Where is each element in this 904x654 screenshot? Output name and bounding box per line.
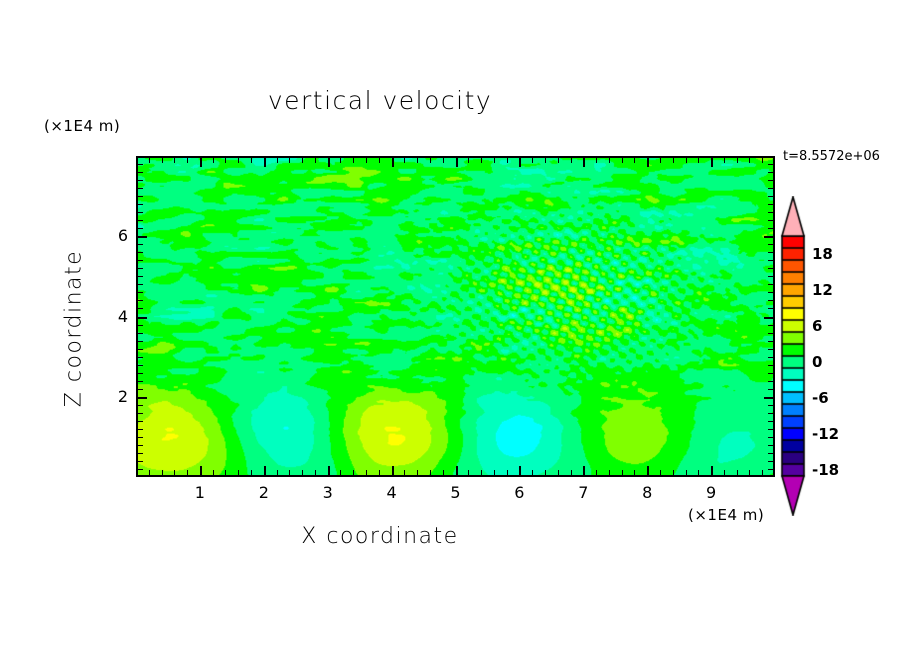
y-tick-right <box>768 469 773 470</box>
y-tick-minor <box>138 204 143 205</box>
y-tick-minor <box>138 220 143 221</box>
page-title: vertical velocity <box>0 86 760 115</box>
x-tick-minor <box>622 470 623 475</box>
y-tick-right <box>768 300 773 301</box>
x-tick-top <box>494 158 495 163</box>
x-tick-minor <box>353 470 354 475</box>
y-tick-minor <box>138 405 143 406</box>
y-tick-right <box>764 397 773 399</box>
x-tick-label: 6 <box>499 483 539 502</box>
y-tick-right <box>768 349 773 350</box>
y-tick-right <box>768 180 773 181</box>
y-tick-right <box>768 244 773 245</box>
y-tick-right <box>768 260 773 261</box>
x-tick-minor <box>494 470 495 475</box>
x-tick-minor <box>379 470 380 475</box>
x-tick-top <box>379 158 380 163</box>
y-tick-right <box>768 341 773 342</box>
y-tick-minor <box>138 453 143 454</box>
y-tick-right <box>768 429 773 430</box>
x-tick-top <box>634 158 635 163</box>
x-tick-top <box>545 158 546 163</box>
x-tick-minor <box>225 470 226 475</box>
x-tick-minor <box>762 470 763 475</box>
colorbar-tick-label: -18 <box>812 461 839 479</box>
x-tick-minor <box>698 470 699 475</box>
x-tick-top <box>149 158 150 163</box>
x-tick-minor <box>481 470 482 475</box>
y-tick-minor <box>138 421 143 422</box>
y-tick-right <box>768 445 773 446</box>
y-tick-minor <box>138 397 147 399</box>
y-tick-right <box>768 325 773 326</box>
x-tick-minor <box>328 466 330 475</box>
x-tick-minor <box>673 470 674 475</box>
x-tick-top <box>200 158 202 167</box>
y-tick-right <box>768 204 773 205</box>
colorbar-tick-label: -12 <box>812 425 839 443</box>
x-tick-minor <box>289 470 290 475</box>
x-tick-top <box>315 158 316 163</box>
x-tick-label: 3 <box>308 483 348 502</box>
x-tick-minor <box>366 470 367 475</box>
colorbar-tick-label: -6 <box>812 389 829 407</box>
x-tick-minor <box>404 470 405 475</box>
x-tick-minor <box>187 470 188 475</box>
y-tick-right <box>768 188 773 189</box>
y-tick-label: 2 <box>88 387 128 406</box>
x-tick-top <box>737 158 738 163</box>
x-tick-top <box>277 158 278 163</box>
y-tick-right <box>768 333 773 334</box>
x-tick-top <box>660 158 661 163</box>
x-tick-top <box>366 158 367 163</box>
y-tick-right <box>768 292 773 293</box>
x-tick-minor <box>213 470 214 475</box>
y-tick-minor <box>138 228 143 229</box>
x-tick-minor <box>749 470 750 475</box>
colorbar-tick-label: 6 <box>812 317 822 335</box>
y-tick-right <box>768 196 773 197</box>
y-tick-right <box>768 453 773 454</box>
x-tick-top <box>225 158 226 163</box>
x-tick-top <box>532 158 533 163</box>
x-tick-top <box>711 158 713 167</box>
x-tick-label: 4 <box>372 483 412 502</box>
y-tick-minor <box>138 180 143 181</box>
x-tick-minor <box>647 466 649 475</box>
x-tick-minor <box>456 466 458 475</box>
x-tick-minor <box>660 470 661 475</box>
y-tick-right <box>768 365 773 366</box>
y-tick-right <box>768 389 773 390</box>
y-tick-right <box>768 164 773 165</box>
y-tick-right <box>768 413 773 414</box>
y-tick-right <box>768 405 773 406</box>
x-tick-label: 2 <box>244 483 284 502</box>
y-tick-minor <box>138 308 143 309</box>
y-tick-minor <box>138 445 143 446</box>
y-tick-right <box>764 236 773 238</box>
x-tick-minor <box>277 470 278 475</box>
x-tick-top <box>264 158 266 167</box>
x-tick-minor <box>507 470 508 475</box>
x-tick-top <box>519 158 521 167</box>
x-tick-top <box>443 158 444 163</box>
y-tick-right <box>768 357 773 358</box>
x-tick-top <box>162 158 163 163</box>
y-tick-minor <box>138 349 143 350</box>
x-axis-title: X coordinate <box>0 524 760 549</box>
x-tick-label: 1 <box>180 483 220 502</box>
x-axis-unit-label: (×1E4 m) <box>688 506 764 524</box>
y-tick-label: 6 <box>88 226 128 245</box>
x-tick-top <box>571 158 572 163</box>
x-tick-top <box>289 158 290 163</box>
y-tick-right <box>768 381 773 382</box>
y-tick-right <box>768 437 773 438</box>
x-tick-minor <box>711 466 713 475</box>
y-tick-minor <box>138 196 143 197</box>
y-tick-minor <box>138 236 147 238</box>
x-tick-top <box>558 158 559 163</box>
x-tick-minor <box>302 470 303 475</box>
y-tick-right <box>768 284 773 285</box>
x-tick-top <box>673 158 674 163</box>
y-tick-minor <box>138 461 143 462</box>
y-tick-minor <box>138 292 143 293</box>
y-tick-minor <box>138 373 143 374</box>
y-tick-minor <box>138 276 143 277</box>
x-tick-top <box>609 158 610 163</box>
x-tick-minor <box>174 470 175 475</box>
x-tick-minor <box>264 466 266 475</box>
y-tick-minor <box>138 284 143 285</box>
x-tick-top <box>698 158 699 163</box>
x-tick-minor <box>634 470 635 475</box>
x-tick-minor <box>737 470 738 475</box>
contour-plot-area[interactable] <box>136 156 775 477</box>
y-tick-minor <box>138 365 143 366</box>
y-tick-minor <box>138 333 143 334</box>
y-tick-right <box>768 220 773 221</box>
x-tick-minor <box>519 466 521 475</box>
x-tick-top <box>622 158 623 163</box>
x-tick-minor <box>468 470 469 475</box>
y-tick-right <box>768 228 773 229</box>
x-tick-top <box>392 158 394 167</box>
x-tick-minor <box>162 470 163 475</box>
x-tick-top <box>238 158 239 163</box>
x-tick-minor <box>315 470 316 475</box>
x-tick-top <box>187 158 188 163</box>
y-tick-right <box>768 252 773 253</box>
y-tick-minor <box>138 381 143 382</box>
y-tick-right <box>764 317 773 319</box>
x-tick-top <box>507 158 508 163</box>
x-tick-minor <box>430 470 431 475</box>
x-tick-top <box>724 158 725 163</box>
x-tick-top <box>417 158 418 163</box>
y-tick-minor <box>138 357 143 358</box>
y-tick-minor <box>138 300 143 301</box>
y-tick-minor <box>138 164 143 165</box>
x-tick-minor <box>686 470 687 475</box>
x-tick-top <box>647 158 649 167</box>
x-tick-minor <box>238 470 239 475</box>
y-axis-unit-label: (×1E4 m) <box>44 117 120 135</box>
x-tick-minor <box>545 470 546 475</box>
timestamp-annotation: t=8.5572e+06 <box>783 149 880 164</box>
x-tick-top <box>481 158 482 163</box>
y-tick-minor <box>138 252 143 253</box>
x-tick-minor <box>251 470 252 475</box>
contour-field <box>138 158 773 475</box>
x-tick-top <box>686 158 687 163</box>
x-tick-minor <box>724 470 725 475</box>
y-tick-right <box>768 212 773 213</box>
x-tick-label: 9 <box>691 483 731 502</box>
x-tick-top <box>174 158 175 163</box>
x-tick-top <box>340 158 341 163</box>
y-tick-right <box>768 276 773 277</box>
colorbar[interactable] <box>779 196 807 516</box>
x-tick-top <box>456 158 458 167</box>
y-tick-minor <box>138 212 143 213</box>
x-tick-top <box>430 158 431 163</box>
x-tick-top <box>583 158 585 167</box>
x-tick-top <box>302 158 303 163</box>
y-tick-minor <box>138 469 143 470</box>
y-tick-minor <box>138 172 143 173</box>
y-tick-minor <box>138 244 143 245</box>
y-tick-minor <box>138 317 147 319</box>
colorbar-tick-label: 0 <box>812 353 822 371</box>
y-tick-minor <box>138 389 143 390</box>
x-tick-top <box>596 158 597 163</box>
y-tick-right <box>768 268 773 269</box>
y-tick-minor <box>138 325 143 326</box>
x-tick-minor <box>392 466 394 475</box>
x-tick-top <box>213 158 214 163</box>
y-tick-right <box>768 373 773 374</box>
colorbar-tick-label: 18 <box>812 245 833 263</box>
y-tick-label: 4 <box>88 307 128 326</box>
y-tick-minor <box>138 268 143 269</box>
y-tick-minor <box>138 437 143 438</box>
y-tick-right <box>768 172 773 173</box>
x-tick-minor <box>571 470 572 475</box>
x-tick-label: 7 <box>563 483 603 502</box>
x-tick-top <box>762 158 763 163</box>
x-tick-minor <box>443 470 444 475</box>
x-tick-minor <box>609 470 610 475</box>
x-tick-top <box>353 158 354 163</box>
y-tick-minor <box>138 413 143 414</box>
y-tick-right <box>768 308 773 309</box>
x-tick-minor <box>596 470 597 475</box>
x-tick-top <box>251 158 252 163</box>
x-tick-minor <box>558 470 559 475</box>
x-tick-label: 5 <box>436 483 476 502</box>
x-tick-top <box>468 158 469 163</box>
y-tick-minor <box>138 341 143 342</box>
x-tick-top <box>749 158 750 163</box>
colorbar-tick-label: 12 <box>812 281 833 299</box>
y-tick-minor <box>138 260 143 261</box>
y-tick-minor <box>138 429 143 430</box>
y-axis-title: Z coordinate <box>62 229 87 429</box>
x-tick-minor <box>417 470 418 475</box>
x-tick-minor <box>340 470 341 475</box>
x-tick-top <box>328 158 330 167</box>
x-tick-top <box>404 158 405 163</box>
y-tick-minor <box>138 188 143 189</box>
x-tick-label: 8 <box>627 483 667 502</box>
y-tick-right <box>768 461 773 462</box>
x-tick-minor <box>200 466 202 475</box>
x-tick-minor <box>583 466 585 475</box>
y-tick-right <box>768 421 773 422</box>
x-tick-minor <box>532 470 533 475</box>
x-tick-minor <box>149 470 150 475</box>
